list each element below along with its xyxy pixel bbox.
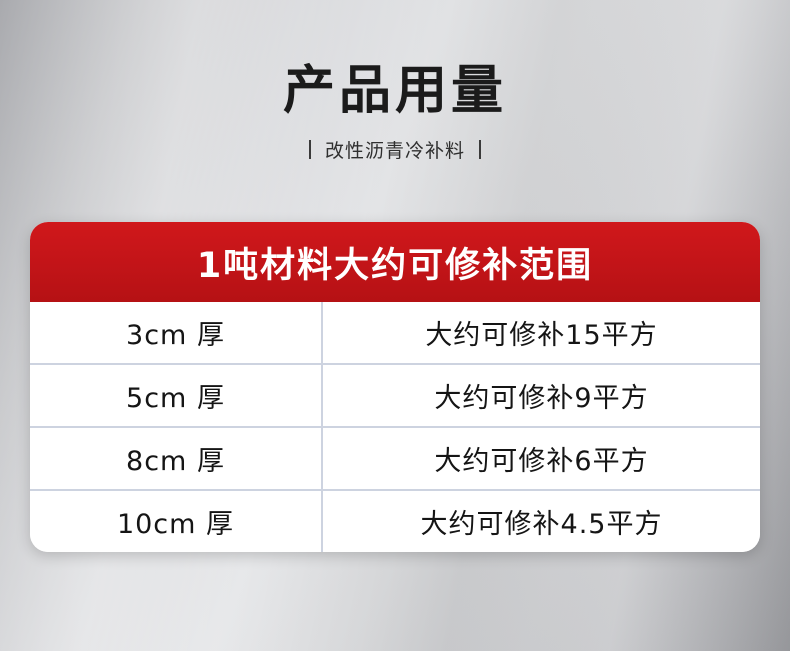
table-row: 5cm 厚 大约可修补9平方	[30, 365, 760, 428]
left-divider-bar	[309, 140, 311, 159]
footer-spacer	[0, 591, 790, 651]
card-header-banner: 1吨材料大约可修补范围	[30, 222, 760, 302]
right-divider-bar	[479, 140, 481, 159]
table-row: 8cm 厚 大约可修补6平方	[30, 428, 760, 491]
area-cell: 大约可修补6平方	[323, 428, 760, 489]
subtitle-row: 改性沥青冷补料	[0, 136, 790, 163]
table-row: 3cm 厚 大约可修补15平方	[30, 302, 760, 365]
area-cell: 大约可修补9平方	[323, 365, 760, 426]
usage-table-card: 1吨材料大约可修补范围 3cm 厚 大约可修补15平方 5cm 厚 大约可修补9…	[30, 222, 760, 552]
thickness-cell: 5cm 厚	[30, 365, 323, 426]
thickness-cell: 3cm 厚	[30, 302, 323, 363]
table-row: 10cm 厚 大约可修补4.5平方	[30, 491, 760, 552]
page-subtitle: 改性沥青冷补料	[325, 136, 465, 163]
area-cell: 大约可修补15平方	[323, 302, 760, 363]
thickness-cell: 8cm 厚	[30, 428, 323, 489]
thickness-cell: 10cm 厚	[30, 491, 323, 552]
area-cell: 大约可修补4.5平方	[323, 491, 760, 552]
card-header-title: 1吨材料大约可修补范围	[197, 237, 593, 288]
usage-table: 3cm 厚 大约可修补15平方 5cm 厚 大约可修补9平方 8cm 厚 大约可…	[30, 302, 760, 552]
page-header: 产品用量 改性沥青冷补料	[0, 0, 790, 163]
page-title: 产品用量	[0, 62, 790, 122]
page-root: 产品用量 改性沥青冷补料 1吨材料大约可修补范围 3cm 厚 大约可修补15平方…	[0, 0, 790, 651]
